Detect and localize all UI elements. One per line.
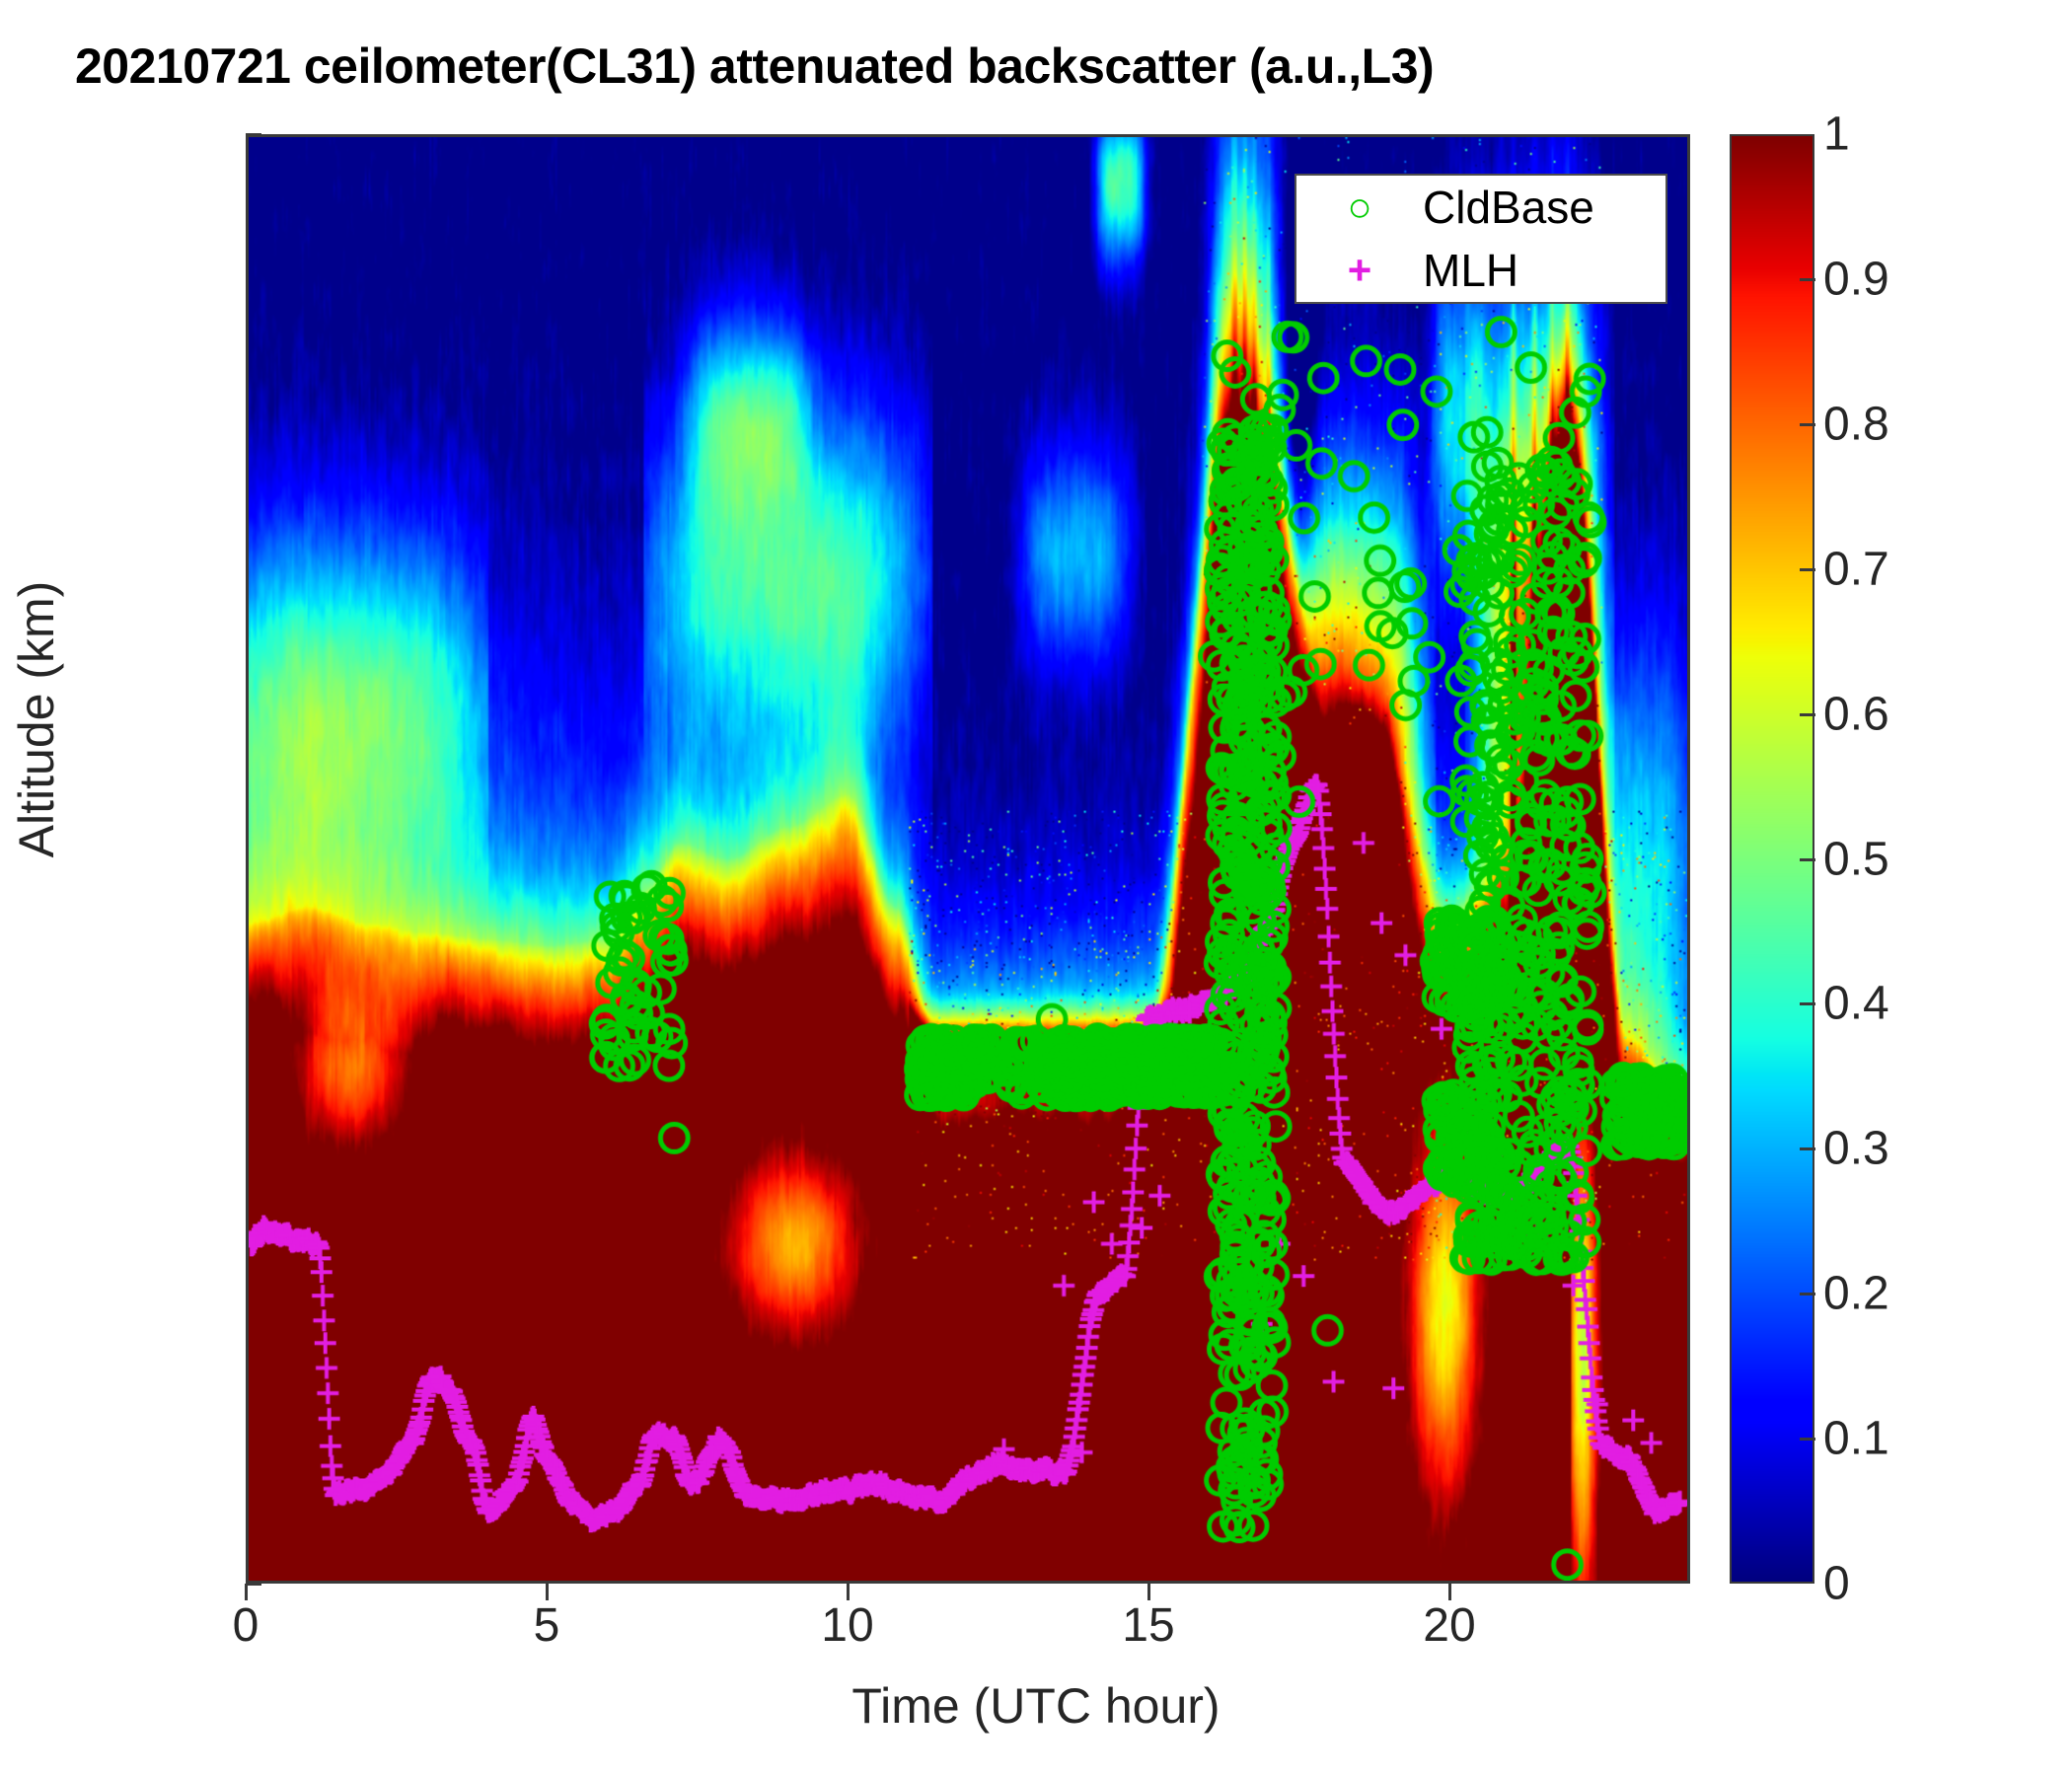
colorbar-tick-mark — [1800, 278, 1815, 281]
x-tick-mark — [1147, 1584, 1150, 1600]
x-tick-label: 10 — [769, 1598, 926, 1653]
x-tick-label: 0 — [167, 1598, 325, 1653]
colorbar-tick-label: 0.7 — [1823, 542, 1889, 596]
colorbar-tick-label: 0.3 — [1823, 1122, 1889, 1176]
circle-marker-icon: ○ — [1296, 186, 1423, 228]
x-tick-mark — [1448, 1584, 1451, 1600]
legend[interactable]: ○ CldBase + MLH — [1295, 174, 1667, 304]
plot-area[interactable] — [246, 134, 1690, 1584]
colorbar-tick-label: 0.1 — [1823, 1412, 1889, 1466]
colorbar-tick-label: 0.5 — [1823, 832, 1889, 886]
plus-marker-icon: + — [1296, 250, 1423, 291]
colorbar-tick-mark — [1800, 1002, 1815, 1005]
colorbar-tick-label: 1 — [1823, 108, 1850, 162]
colorbar-tick-mark — [1800, 1147, 1815, 1150]
colorbar-tick-label: 0.4 — [1823, 977, 1889, 1031]
colorbar-tick-label: 0.8 — [1823, 397, 1889, 451]
x-tick-label: 20 — [1370, 1598, 1528, 1653]
legend-item-cldbase[interactable]: ○ CldBase — [1296, 176, 1665, 239]
x-axis-label: Time (UTC hour) — [0, 1677, 2072, 1735]
colorbar-tick-label: 0.2 — [1823, 1267, 1889, 1321]
colorbar-tick-mark — [1800, 568, 1815, 571]
y-axis-label: Altitude (km) — [8, 482, 65, 956]
colorbar-tick-label: 0 — [1823, 1557, 1850, 1611]
figure-canvas: 20210721 ceilometer(CL31) attenuated bac… — [0, 0, 2072, 1776]
x-tick-mark — [546, 1584, 549, 1600]
legend-label-mlh: MLH — [1423, 244, 1518, 297]
chart-title: 20210721 ceilometer(CL31) attenuated bac… — [75, 37, 1752, 95]
x-tick-mark — [847, 1584, 850, 1600]
colorbar-tick-mark — [1800, 858, 1815, 861]
legend-label-cldbase: CldBase — [1423, 181, 1594, 234]
colorbar-tick-mark — [1800, 1293, 1815, 1295]
colorbar-tick-mark — [1800, 713, 1815, 716]
colorbar-tick-mark — [1800, 423, 1815, 426]
legend-item-mlh[interactable]: + MLH — [1296, 239, 1665, 302]
x-tick-label: 5 — [468, 1598, 626, 1653]
x-tick-label: 15 — [1070, 1598, 1227, 1653]
colorbar-tick-label: 0.6 — [1823, 687, 1889, 741]
colorbar-tick-mark — [1800, 1438, 1815, 1441]
colorbar-tick-label: 0.9 — [1823, 252, 1889, 306]
marker-overlay — [249, 137, 1687, 1581]
x-tick-mark — [245, 1584, 248, 1600]
